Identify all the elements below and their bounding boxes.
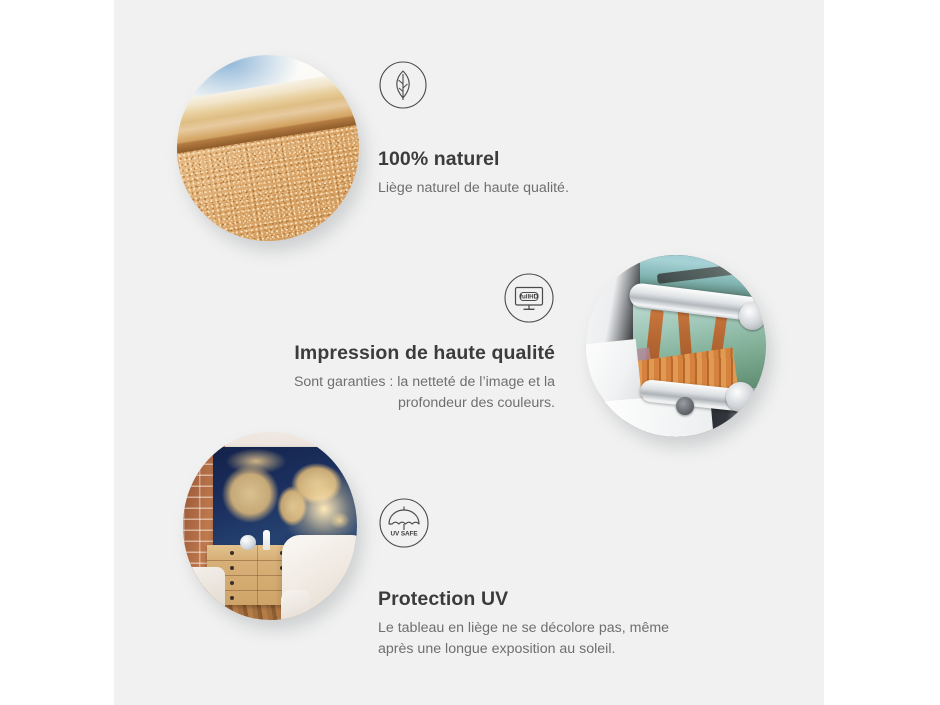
icon-container: fullHD	[225, 272, 555, 324]
feature-uv-protection: UV SAFE Protection UV Le tableau en lièg…	[378, 497, 738, 661]
photo-armchair-arm	[281, 590, 309, 620]
cork-board-closeup-photo	[177, 55, 359, 241]
photo-roller-hub	[739, 302, 766, 329]
feature-description-line: Sont garanties : la netteté de l’image e…	[225, 372, 555, 393]
feature-description-line: après une longue exposition au soleil.	[378, 639, 738, 660]
photo-armchair-secondary	[183, 567, 225, 620]
feature-print-quality: fullHD Impression de haute qualité Sont …	[225, 272, 555, 415]
photo-roller-bolt	[676, 397, 694, 415]
photo-figurine-ornament	[263, 530, 270, 551]
feature-title: 100% naturel	[378, 148, 718, 171]
feature-natural: 100% naturel Liège naturel de haute qual…	[378, 60, 718, 199]
feature-description: Le tableau en liège ne se décolore pas, …	[378, 618, 738, 661]
printing-press-photo	[586, 255, 766, 437]
feature-description-line: profondeur des couleurs.	[225, 393, 555, 414]
feature-description: Sont garanties : la netteté de l’image e…	[225, 372, 555, 415]
fullhd-label: fullHD	[520, 294, 539, 301]
photo-roller-hub	[726, 382, 755, 411]
feature-title: Impression de haute qualité	[225, 342, 555, 365]
leaf-icon	[378, 60, 718, 110]
world-map-interior-photo	[183, 432, 357, 620]
feature-description-line: Le tableau en liège ne se décolore pas, …	[378, 618, 738, 639]
uv-safe-label: UV SAFE	[391, 531, 419, 538]
feature-title: Protection UV	[378, 588, 738, 611]
fullhd-monitor-icon: fullHD	[503, 272, 555, 324]
infographic-canvas: 100% naturel Liège naturel de haute qual…	[0, 0, 940, 705]
uv-safe-umbrella-icon: UV SAFE	[378, 497, 738, 549]
photo-armchair	[282, 535, 357, 620]
feature-description: Liège naturel de haute qualité.	[378, 178, 718, 199]
